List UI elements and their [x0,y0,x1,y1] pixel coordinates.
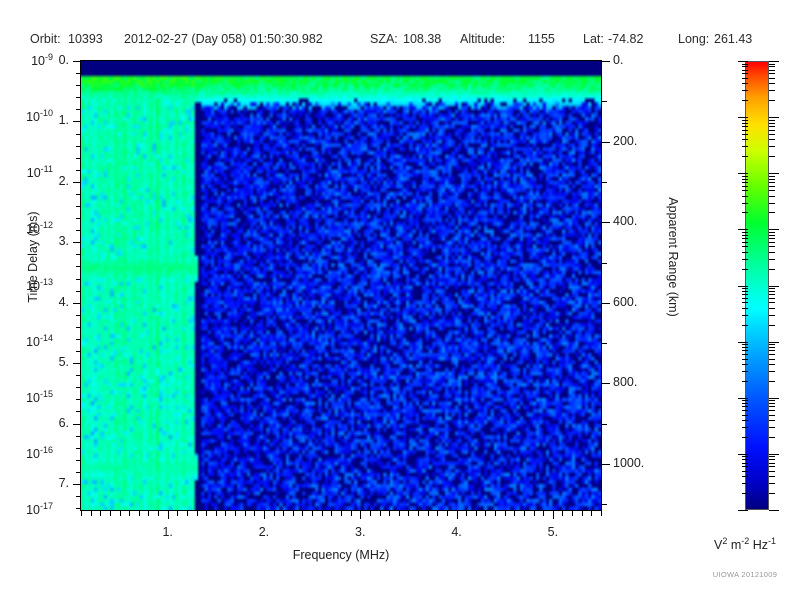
colorbar-tick-minor [742,459,748,460]
frequency-tick-minor [129,511,130,516]
time-delay-tick-minor [76,399,81,400]
colorbar-tick-minor [742,471,748,472]
colorbar-tick-label: 10-17 [26,501,53,517]
apparent-range-tick-major [602,383,610,384]
frequency-tick-minor [562,511,563,516]
apparent-range-tick-major [602,61,610,62]
colorbar-tick-minor [769,246,775,247]
colorbar-tick-minor [769,302,775,303]
time-delay-tick-major [73,303,81,304]
colorbar-tick-minor [769,415,775,416]
time-delay-tick-label: 6. [59,416,69,430]
frequency-tick-label: 5. [548,525,558,539]
time-delay-tick-minor [76,218,81,219]
time-delay-tick-major [73,121,81,122]
apparent-range-tick-label: 200. [613,134,637,148]
colorbar-tick-minor [742,466,748,467]
colorbar-tick-minor [742,476,748,477]
colorbar-tick-minor [769,156,775,157]
time-delay-tick-label: 0. [59,53,69,67]
frequency-tick-minor [582,511,583,516]
colorbar-tick-minor [742,212,748,213]
colorbar-tick-minor [769,437,775,438]
frequency-tick-minor [389,511,390,516]
colorbar-tick-minor [742,406,748,407]
colorbar-tick-minor [769,406,775,407]
colorbar-tick-minor [742,238,748,239]
colorbar-tick-minor [769,294,775,295]
frequency-tick-minor [302,511,303,516]
colorbar-tick-minor [742,242,748,243]
colorbar-tick-major [738,117,748,118]
colorbar-tick-minor [769,100,775,101]
apparent-range-tick-minor [602,101,607,102]
colorbar-tick-minor [769,186,775,187]
colorbar-tick-major [738,454,748,455]
colorbar-tick-minor [742,288,748,289]
colorbar-tick-major [738,286,748,287]
frequency-tick-minor [197,511,198,516]
colorbar-tick-minor [769,288,775,289]
time-delay-tick-minor [76,375,81,376]
colorbar-tick-minor [742,64,748,65]
colorbar-tick-label: 10-16 [26,445,53,461]
colorbar-tick-minor [769,139,775,140]
colorbar-tick-label: 10-9 [31,52,53,68]
frequency-tick-minor [495,511,496,516]
frequency-tick-major [360,511,361,519]
colorbar-tick-minor [742,347,748,348]
colorbar-tick-minor [742,420,748,421]
colorbar-tick-minor [742,298,748,299]
frequency-tick-major [553,511,554,519]
colorbar-tick-minor [769,466,775,467]
colorbar-tick-minor [742,70,748,71]
time-delay-tick-minor [76,508,81,509]
apparent-range-axis-title: Apparent Range (km) [666,192,680,322]
time-delay-tick-minor [76,291,81,292]
time-delay-tick-minor [76,266,81,267]
colorbar-tick-minor [742,308,748,309]
colorbar-tick-minor [769,212,775,213]
colorbar-tick-minor [742,66,748,67]
colorbar-tick-minor [742,354,748,355]
time-delay-tick-label: 4. [59,295,69,309]
colorbar-tick-minor [742,78,748,79]
frequency-axis-title: Frequency (MHz) [0,548,682,562]
colorbar-tick-minor [742,400,748,401]
colorbar-ticks-left [734,61,748,510]
colorbar-tick-minor [742,403,748,404]
colorbar-tick-minor [769,400,775,401]
colorbar-tick-minor [742,186,748,187]
colorbar-tick-minor [769,410,775,411]
colorbar-tick-minor [769,130,775,131]
frequency-tick-minor [177,511,178,516]
colorbar-tick-minor [742,359,748,360]
colorbar-tick-minor [742,325,748,326]
frequency-tick-minor [206,511,207,516]
colorbar-tick-minor [742,410,748,411]
frequency-tick-minor [110,511,111,516]
frequency-tick-minor [91,511,92,516]
colorbar-tick-minor [742,291,748,292]
time-delay-tick-minor [76,194,81,195]
colorbar-tick-minor [769,463,775,464]
apparent-range-tick-label: 1000. [613,456,644,470]
time-delay-tick-minor [76,146,81,147]
frequency-tick-minor [158,511,159,516]
time-delay-tick-minor [76,230,81,231]
colorbar-tick-minor [742,130,748,131]
colorbar-tick-minor [742,364,748,365]
colorbar-tick-minor [769,252,775,253]
frequency-tick-major [168,511,169,519]
colorbar-tick-minor [769,381,775,382]
colorbar-tick-minor [769,196,775,197]
colorbar-tick-minor [742,90,748,91]
ionogram-spectrogram-panel[interactable] [81,61,601,510]
frequency-tick-minor [399,511,400,516]
time-delay-tick-label: 2. [59,174,69,188]
time-delay-tick-minor [76,73,81,74]
credit-text: UIOWA 20121009 [690,570,800,579]
colorbar-gradient [745,61,769,510]
frequency-tick-label: 2. [259,525,269,539]
time-delay-tick-minor [76,158,81,159]
colorbar-tick-minor [742,437,748,438]
colorbar-tick-minor [769,347,775,348]
colorbar-tick-minor [742,203,748,204]
colorbar-tick-minor [742,100,748,101]
time-delay-tick-label: 5. [59,355,69,369]
colorbar-tick-minor [742,493,748,494]
colorbar-tick-minor [769,291,775,292]
time-delay-axis-title: Time Delay (ms) [26,197,40,317]
colorbar-tick-minor [769,83,775,84]
time-delay-tick-label: 7. [59,476,69,490]
apparent-range-tick-minor [602,263,607,264]
colorbar-tick-minor [769,90,775,91]
colorbar-tick-minor [742,83,748,84]
colorbar-tick-minor [742,427,748,428]
colorbar-tick-minor [769,259,775,260]
apparent-range-tick-minor [602,343,607,344]
time-delay-tick-major [73,242,81,243]
colorbar-tick-minor [769,235,775,236]
frequency-tick-minor [331,511,332,516]
frequency-tick-minor [437,511,438,516]
colorbar-tick-major [769,398,779,399]
colorbar-tick-minor [742,235,748,236]
apparent-range-tick-minor [602,504,607,505]
datetime-value: 2012-02-27 (Day 058) 01:50:30.982 [124,30,323,48]
time-delay-tick-minor [76,496,81,497]
frequency-tick-minor [543,511,544,516]
colorbar-tick-minor [742,176,748,177]
colorbar-tick-label: 10-15 [26,389,53,405]
frequency-tick-minor [514,511,515,516]
frequency-tick-major [457,511,458,519]
colorbar-tick-label: 10-11 [27,164,53,180]
time-delay-tick-minor [76,448,81,449]
apparent-range-tick-major [602,464,610,465]
frequency-tick-minor [274,511,275,516]
frequency-tick-major [264,511,265,519]
colorbar-tick-major [738,61,748,62]
colorbar-tick-minor [742,456,748,457]
colorbar-tick-minor [769,420,775,421]
time-delay-tick-minor [76,85,81,86]
colorbar-tick-major [738,342,748,343]
frequency-tick-minor [81,511,82,516]
colorbar-tick-minor [769,242,775,243]
frequency-tick-minor [572,511,573,516]
colorbar-tick-minor [742,483,748,484]
frequency-tick-minor [225,511,226,516]
colorbar-tick-major [769,342,779,343]
colorbar-tick-major [769,117,779,118]
altitude-value: 1155 [528,30,555,48]
unit-hz-exp: -1 [768,536,776,546]
colorbar-tick-minor [769,459,775,460]
colorbar-tick-major [769,286,779,287]
frequency-tick-minor [591,511,592,516]
colorbar-tick-minor [769,371,775,372]
colorbar-tick-minor [769,182,775,183]
frequency-tick-minor [293,511,294,516]
frequency-tick-minor [601,511,602,516]
time-delay-tick-minor [76,411,81,412]
colorbar-tick-minor [769,73,775,74]
time-delay-tick-minor [76,254,81,255]
colorbar-tick-minor [742,123,748,124]
time-delay-tick-label: 1. [59,113,69,127]
colorbar-tick-minor [742,315,748,316]
frequency-tick-minor [322,511,323,516]
colorbar-tick-minor [742,134,748,135]
colorbar-tick-minor [742,350,748,351]
colorbar-tick-minor [769,471,775,472]
colorbar-tick-minor [769,315,775,316]
colorbar-tick-minor [769,403,775,404]
time-delay-tick-minor [76,351,81,352]
frequency-tick-minor [235,511,236,516]
colorbar-tick-minor [769,354,775,355]
frequency-tick-minor [447,511,448,516]
time-delay-tick-label: 3. [59,234,69,248]
frequency-tick-minor [148,511,149,516]
frequency-tick-minor [216,511,217,516]
colorbar-tick-minor [742,139,748,140]
colorbar-tick-minor [742,179,748,180]
colorbar-tick-minor [769,476,775,477]
colorbar-tick-minor [769,64,775,65]
colorbar-tick-minor [769,325,775,326]
colorbar-tick-minor [742,190,748,191]
colorbar-tick-minor [742,371,748,372]
colorbar-tick-minor [769,350,775,351]
frequency-tick-minor [505,511,506,516]
apparent-range-tick-label: 800. [613,375,637,389]
colorbar-tick-minor [742,146,748,147]
colorbar-tick-minor [742,381,748,382]
frequency-tick-minor [466,511,467,516]
frequency-axis: Frequency (MHz) 1.2.3.4.5. [0,510,800,600]
colorbar-tick-minor [769,146,775,147]
colorbar-tick-minor [769,66,775,67]
colorbar-tick-major [738,398,748,399]
colorbar-tick-minor [769,176,775,177]
colorbar-tick-label: 10-13 [26,277,53,293]
frequency-tick-minor [534,511,535,516]
time-delay-tick-minor [76,472,81,473]
time-delay-tick-major [73,424,81,425]
apparent-range-tick-major [602,142,610,143]
spectrogram-canvas[interactable] [81,61,601,510]
frequency-tick-label: 3. [355,525,365,539]
colorbar-tick-minor [769,190,775,191]
colorbar-tick-minor [769,70,775,71]
time-delay-tick-minor [76,279,81,280]
colorbar-tick-minor [742,246,748,247]
colorbar-tick-major [738,173,748,174]
time-delay-tick-minor [76,327,81,328]
apparent-range-tick-label: 0. [613,53,623,67]
unit-m: m [727,538,741,552]
altitude-label: Altitude: [460,30,505,48]
frequency-tick-minor [254,511,255,516]
colorbar-ticks-right [769,61,783,510]
colorbar-tick-label: 10-14 [26,333,53,349]
frequency-tick-minor [380,511,381,516]
colorbar-tick-minor [769,364,775,365]
colorbar-unit-label: V2 m-2 Hz-1 [690,536,800,552]
colorbar-tick-minor [769,298,775,299]
colorbar-tick-minor [769,308,775,309]
colorbar-tick-minor [769,126,775,127]
colorbar-tick-minor [742,156,748,157]
colorbar-tick-minor [769,483,775,484]
time-delay-tick-minor [76,134,81,135]
unit-hz: Hz [749,538,768,552]
apparent-range-tick-label: 400. [613,214,637,228]
colorbar-tick-minor [742,182,748,183]
frequency-tick-minor [428,511,429,516]
colorbar-tick-minor [742,232,748,233]
frequency-tick-minor [485,511,486,516]
colorbar-tick-minor [769,78,775,79]
colorbar-tick-minor [742,344,748,345]
colorbar-tick-minor [742,126,748,127]
frequency-tick-minor [370,511,371,516]
time-delay-tick-minor [76,97,81,98]
colorbar-tick-minor [742,120,748,121]
time-delay-tick-minor [76,109,81,110]
apparent-range-tick-minor [602,424,607,425]
time-delay-tick-major [73,61,81,62]
colorbar-tick-major [769,173,779,174]
colorbar-tick-major [738,229,748,230]
frequency-tick-minor [418,511,419,516]
time-delay-tick-minor [76,339,81,340]
frequency-tick-label: 1. [162,525,172,539]
frequency-tick-label: 4. [451,525,461,539]
time-delay-tick-minor [76,170,81,171]
colorbar-tick-minor [769,493,775,494]
frequency-tick-minor [283,511,284,516]
colorbar-tick-minor [769,203,775,204]
frequency-tick-minor [408,511,409,516]
colorbar-tick-major [769,229,779,230]
colorbar-tick-minor [769,344,775,345]
colorbar-tick-minor [742,269,748,270]
apparent-range-tick-major [602,222,610,223]
frequency-tick-minor [341,511,342,516]
sza-label: SZA: [370,30,398,48]
colorbar-tick-minor [769,179,775,180]
time-delay-tick-minor [76,436,81,437]
apparent-range-tick-minor [602,182,607,183]
colorbar-tick-minor [742,463,748,464]
time-delay-tick-minor [76,315,81,316]
colorbar-tick-minor [769,238,775,239]
colorbar-tick-minor [742,196,748,197]
colorbar-tick-minor [769,134,775,135]
frequency-tick-minor [476,511,477,516]
colorbar-tick-minor [769,359,775,360]
time-delay-tick-major [73,484,81,485]
frequency-tick-minor [187,511,188,516]
time-delay-tick-minor [76,206,81,207]
colorbar-tick-minor [742,252,748,253]
sza-value: 108.38 [403,30,441,48]
frequency-tick-minor [312,511,313,516]
colorbar-tick-minor [742,73,748,74]
apparent-range-tick-major [602,303,610,304]
frequency-tick-minor [120,511,121,516]
colorbar-tick-minor [769,269,775,270]
time-delay-tick-minor [76,387,81,388]
colorbar-tick-minor [742,302,748,303]
colorbar-tick-minor [769,123,775,124]
colorbar-tick-major [769,61,779,62]
colorbar-tick-major [769,510,779,511]
colorbar-tick-label: 10-12 [26,220,53,236]
apparent-range-tick-label: 600. [613,295,637,309]
time-delay-tick-major [73,363,81,364]
colorbar-tick-minor [769,456,775,457]
colorbar-tick-minor [742,294,748,295]
frequency-tick-minor [351,511,352,516]
spectral-density-colorbar[interactable] [745,61,769,510]
frequency-tick-minor [100,511,101,516]
colorbar-tick-minor [742,415,748,416]
time-delay-tick-minor [76,460,81,461]
colorbar-tick-major [769,454,779,455]
colorbar-tick-minor [769,232,775,233]
frequency-tick-minor [524,511,525,516]
frequency-tick-minor [139,511,140,516]
time-delay-tick-major [73,182,81,183]
colorbar-tick-minor [742,259,748,260]
colorbar-tick-minor [769,427,775,428]
frequency-tick-minor [245,511,246,516]
colorbar-tick-minor [769,120,775,121]
colorbar-tick-label: 10-10 [26,108,53,124]
colorbar-tick-major [738,510,748,511]
